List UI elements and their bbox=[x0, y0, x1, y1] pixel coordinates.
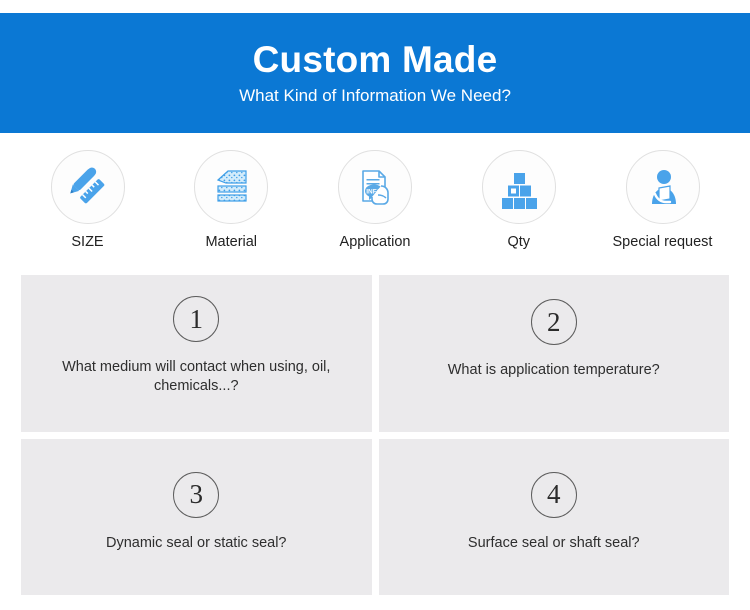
question-text-2: What is application temperature? bbox=[430, 361, 678, 380]
question-cards-grid: 1 What medium will contact when using, o… bbox=[21, 275, 729, 595]
page-title: Custom Made bbox=[253, 41, 498, 80]
question-card-1: 1 What medium will contact when using, o… bbox=[21, 275, 372, 432]
question-number-1: 1 bbox=[173, 296, 219, 342]
page-subtitle: What Kind of Information We Need? bbox=[239, 87, 511, 106]
icon-label-size: SIZE bbox=[71, 235, 103, 251]
icon-item-special-request: Special request bbox=[596, 150, 729, 251]
custom-made-infographic: Custom Made What Kind of Information We … bbox=[0, 0, 750, 610]
person-clipboard-icon bbox=[626, 150, 700, 224]
question-card-3: 3 Dynamic seal or static seal? bbox=[21, 439, 372, 596]
document-info-hand-icon: INFO bbox=[338, 150, 412, 224]
header-banner: Custom Made What Kind of Information We … bbox=[0, 13, 750, 133]
question-text-4: Surface seal or shaft seal? bbox=[450, 534, 658, 553]
icon-item-material: Material bbox=[165, 150, 298, 251]
icon-item-qty: Qty bbox=[452, 150, 585, 251]
icon-label-qty: Qty bbox=[507, 235, 530, 251]
icon-label-special-request: Special request bbox=[613, 235, 713, 251]
question-number-3: 3 bbox=[173, 472, 219, 518]
question-text-3: Dynamic seal or static seal? bbox=[88, 534, 305, 553]
icon-label-application: Application bbox=[340, 235, 411, 251]
info-category-icons: SIZE bbox=[21, 150, 729, 258]
question-number-4: 4 bbox=[531, 472, 577, 518]
icon-label-material: Material bbox=[205, 235, 257, 251]
question-text-1: What medium will contact when using, oil… bbox=[21, 358, 372, 397]
icon-item-size: SIZE bbox=[21, 150, 154, 251]
layered-material-icon bbox=[194, 150, 268, 224]
icon-item-application: INFO Application bbox=[309, 150, 442, 251]
question-number-2: 2 bbox=[531, 299, 577, 345]
question-card-4: 4 Surface seal or shaft seal? bbox=[379, 439, 730, 596]
ruler-pencil-icon bbox=[51, 150, 125, 224]
stacked-boxes-icon bbox=[482, 150, 556, 224]
question-card-2: 2 What is application temperature? bbox=[379, 275, 730, 432]
